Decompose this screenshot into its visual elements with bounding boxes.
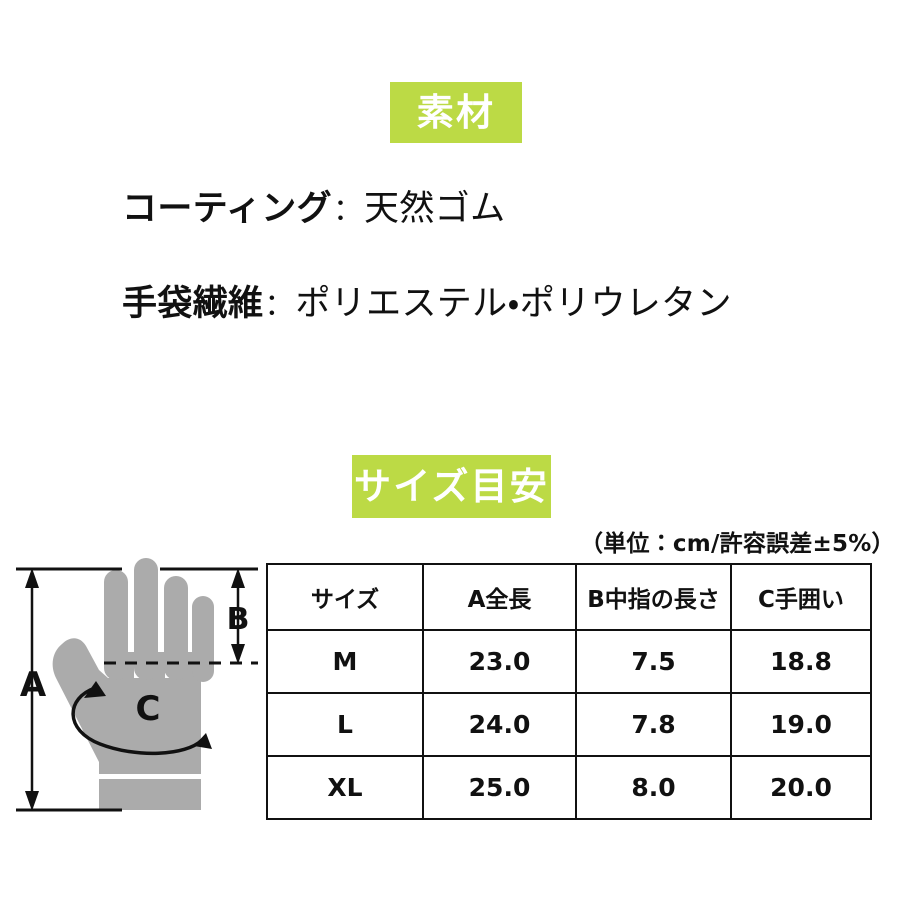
- measure-b-arrowhead-top: [231, 568, 245, 588]
- table-row: XL 25.0 8.0 20.0: [267, 756, 871, 819]
- spec-value-coating: 天然ゴム: [364, 192, 505, 227]
- cell-size: M: [267, 630, 423, 693]
- spec-value-fiber: ポリエステル・ポリウレタン: [295, 287, 731, 322]
- cell-a: 24.0: [423, 693, 576, 756]
- size-table: サイズ A全長 B中指の長さ C手囲い M 23.0 7.5 18.8 L 24…: [266, 563, 872, 820]
- glove-finger-little: [192, 596, 214, 682]
- cell-size: XL: [267, 756, 423, 819]
- cell-a: 25.0: [423, 756, 576, 819]
- table-header-c: C手囲い: [731, 564, 871, 630]
- measure-a-arrowhead-bottom: [25, 791, 39, 811]
- table-header-b: B中指の長さ: [576, 564, 731, 630]
- measure-b-label: B: [227, 602, 250, 637]
- glove-measurement-diagram: A B C: [0, 548, 266, 828]
- measure-c-label: C: [136, 689, 161, 729]
- cell-size: L: [267, 693, 423, 756]
- cell-b: 8.0: [576, 756, 731, 819]
- cell-a: 23.0: [423, 630, 576, 693]
- glove-silhouette-icon: [53, 558, 214, 810]
- size-section-badge: サイズ目安: [352, 455, 551, 518]
- spec-label-fiber: 手袋繊維: [122, 287, 263, 322]
- table-header-size: サイズ: [267, 564, 423, 630]
- spec-line-coating: コーティング ： 天然ゴム: [122, 192, 505, 227]
- spec-separator-fiber: ：: [263, 291, 295, 321]
- cell-c: 19.0: [731, 693, 871, 756]
- cell-c: 18.8: [731, 630, 871, 693]
- size-units-note: （単位：cm/許容誤差±5%）: [580, 524, 895, 558]
- spec-separator-coating: ：: [332, 196, 364, 226]
- spec-label-coating: コーティング: [122, 192, 332, 227]
- table-header-row: サイズ A全長 B中指の長さ C手囲い: [267, 564, 871, 630]
- table-row: L 24.0 7.8 19.0: [267, 693, 871, 756]
- cell-b: 7.5: [576, 630, 731, 693]
- material-section-badge: 素材: [390, 82, 522, 143]
- measure-a-label: A: [20, 665, 47, 705]
- measure-b-arrowhead-bottom: [231, 644, 245, 664]
- cell-b: 7.8: [576, 693, 731, 756]
- table-row: M 23.0 7.5 18.8: [267, 630, 871, 693]
- cell-c: 20.0: [731, 756, 871, 819]
- glove-cuff-line: [99, 774, 201, 779]
- spec-line-fiber: 手袋繊維 ： ポリエステル・ポリウレタン: [122, 287, 732, 322]
- table-header-a: A全長: [423, 564, 576, 630]
- measure-a-arrowhead-top: [25, 568, 39, 588]
